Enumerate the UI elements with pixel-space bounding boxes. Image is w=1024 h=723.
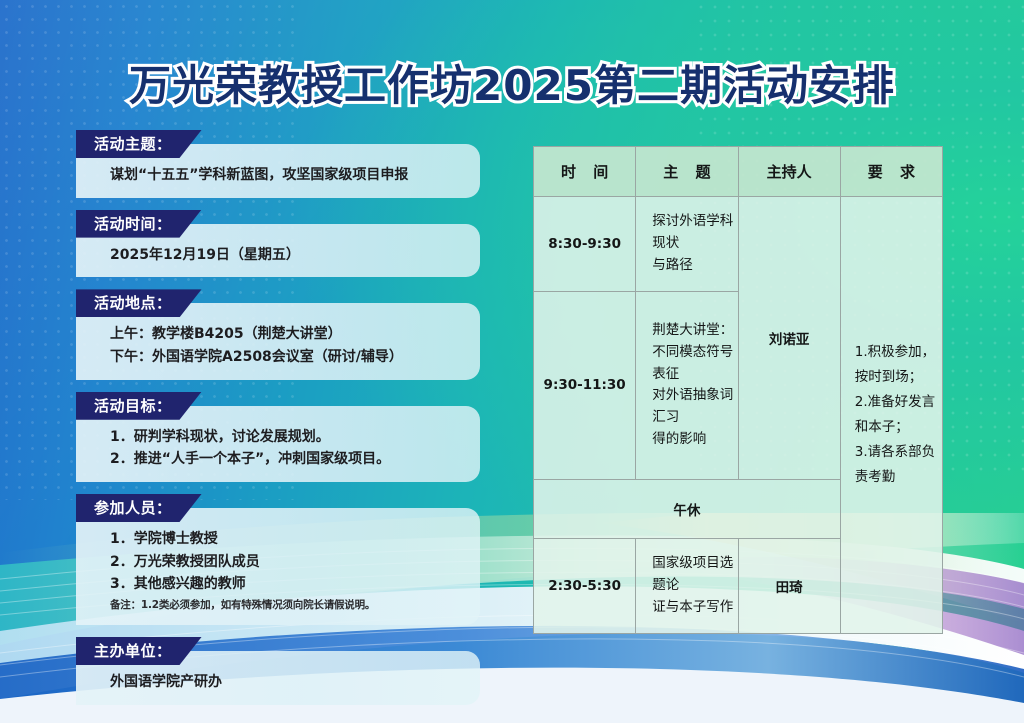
page-title: 万光荣教授工作坊2025第二期活动安排: [129, 52, 895, 113]
schedule-table-container: 时 间 主 题 主持人 要 求 8:30-9:30 探讨外语学科现状 与路径 刘…: [533, 146, 943, 634]
section-goals: 活动目标： 1．研判学科现状，讨论发展规划。 2．推进“人手一个本子”，冲刺国家…: [76, 392, 480, 482]
row-2-topic: 荆楚大讲堂： 不同模态符号表征 对外语抽象词汇习 得的影响: [636, 291, 738, 479]
section-time-tag: 活动时间：: [76, 210, 202, 238]
section-time-line-1: 2025年12月19日（星期五）: [110, 244, 464, 267]
section-location-line-1: 上午：教学楼B4205（荆楚大讲堂）: [110, 323, 464, 346]
section-participants-line-3: 3．其他感兴趣的教师: [110, 573, 464, 596]
section-location: 活动地点： 上午：教学楼B4205（荆楚大讲堂） 下午：外国语学院A2508会议…: [76, 289, 480, 379]
requirement-line-3: 2.准备好发言: [855, 390, 942, 415]
row-3-topic: 国家级项目选题论 证与本子写作: [636, 539, 738, 634]
row-2-topic-line-3: 对外语抽象词汇习: [652, 385, 737, 429]
section-time: 活动时间： 2025年12月19日（星期五）: [76, 210, 480, 278]
table-header-time: 时 间: [534, 147, 636, 197]
requirement-line-1: 1.积极参加，: [855, 340, 942, 365]
table-header-requirement: 要 求: [840, 147, 942, 197]
row-2-topic-line-2: 不同模态符号表征: [652, 342, 737, 386]
section-theme: 活动主题： 谋划“十五五”学科新蓝图，攻坚国家级项目申报: [76, 130, 480, 198]
section-goals-tag: 活动目标：: [76, 392, 202, 420]
info-sections: 活动主题： 谋划“十五五”学科新蓝图，攻坚国家级项目申报 活动时间： 2025年…: [76, 130, 480, 717]
requirement-line-6: 责考勤: [855, 465, 942, 490]
row-1-topic-line-2: 与路径: [652, 255, 737, 277]
section-participants-note: 备注：1.2类必须参加，如有特殊情况须向院长请假说明。: [110, 597, 464, 614]
section-location-line-2: 下午：外国语学院A2508会议室（研讨/辅导）: [110, 346, 464, 369]
section-goals-line-2: 2．推进“人手一个本子”，冲刺国家级项目。: [110, 448, 464, 471]
row-1-topic-line-1: 探讨外语学科现状: [652, 211, 737, 255]
row-3-topic-line-1: 国家级项目选题论: [652, 553, 737, 597]
schedule-table: 时 间 主 题 主持人 要 求 8:30-9:30 探讨外语学科现状 与路径 刘…: [533, 146, 943, 634]
section-participants-line-2: 2．万光荣教授团队成员: [110, 551, 464, 574]
requirement-line-4: 和本子；: [855, 415, 942, 440]
section-participants-body: 1．学院博士教授 2．万光荣教授团队成员 3．其他感兴趣的教师 备注：1.2类必…: [76, 508, 480, 625]
table-header-row: 时 间 主 题 主持人 要 求: [534, 147, 943, 197]
section-organizer-line-1: 外国语学院产研办: [110, 671, 464, 694]
requirement-line-2: 按时到场；: [855, 365, 942, 390]
host-morning: 刘诺亚: [738, 197, 840, 480]
table-header-host: 主持人: [738, 147, 840, 197]
table-header-topic: 主 题: [636, 147, 738, 197]
row-1-topic: 探讨外语学科现状 与路径: [636, 197, 738, 292]
section-theme-tag: 活动主题：: [76, 130, 202, 158]
poster-root: 万光荣教授工作坊2025第二期活动安排 活动主题： 谋划“十五五”学科新蓝图，攻…: [0, 0, 1024, 723]
requirement-line-5: 3.请各系部负: [855, 440, 942, 465]
row-2-topic-line-1: 荆楚大讲堂：: [652, 320, 737, 342]
row-3-time: 2:30-5:30: [534, 539, 636, 634]
row-2-time: 9:30-11:30: [534, 291, 636, 479]
row-2-topic-line-4: 得的影响: [652, 429, 737, 451]
poster-title-container: 万光荣教授工作坊2025第二期活动安排: [0, 52, 1024, 113]
section-participants-tag: 参加人员：: [76, 494, 202, 522]
section-location-tag: 活动地点：: [76, 289, 202, 317]
section-theme-line-1: 谋划“十五五”学科新蓝图，攻坚国家级项目申报: [110, 164, 464, 187]
host-afternoon: 田琦: [738, 539, 840, 634]
section-organizer-tag: 主办单位：: [76, 637, 202, 665]
section-organizer: 主办单位： 外国语学院产研办: [76, 637, 480, 705]
section-participants-line-1: 1．学院博士教授: [110, 528, 464, 551]
requirement-cell: 1.积极参加， 按时到场； 2.准备好发言 和本子； 3.请各系部负 责考勤: [840, 197, 942, 634]
lunch-break-cell: 午休: [534, 480, 841, 539]
table-row: 8:30-9:30 探讨外语学科现状 与路径 刘诺亚 1.积极参加， 按时到场；…: [534, 197, 943, 292]
row-3-topic-line-2: 证与本子写作: [652, 597, 737, 619]
section-goals-line-1: 1．研判学科现状，讨论发展规划。: [110, 426, 464, 449]
section-participants: 参加人员： 1．学院博士教授 2．万光荣教授团队成员 3．其他感兴趣的教师 备注…: [76, 494, 480, 625]
row-1-time: 8:30-9:30: [534, 197, 636, 292]
